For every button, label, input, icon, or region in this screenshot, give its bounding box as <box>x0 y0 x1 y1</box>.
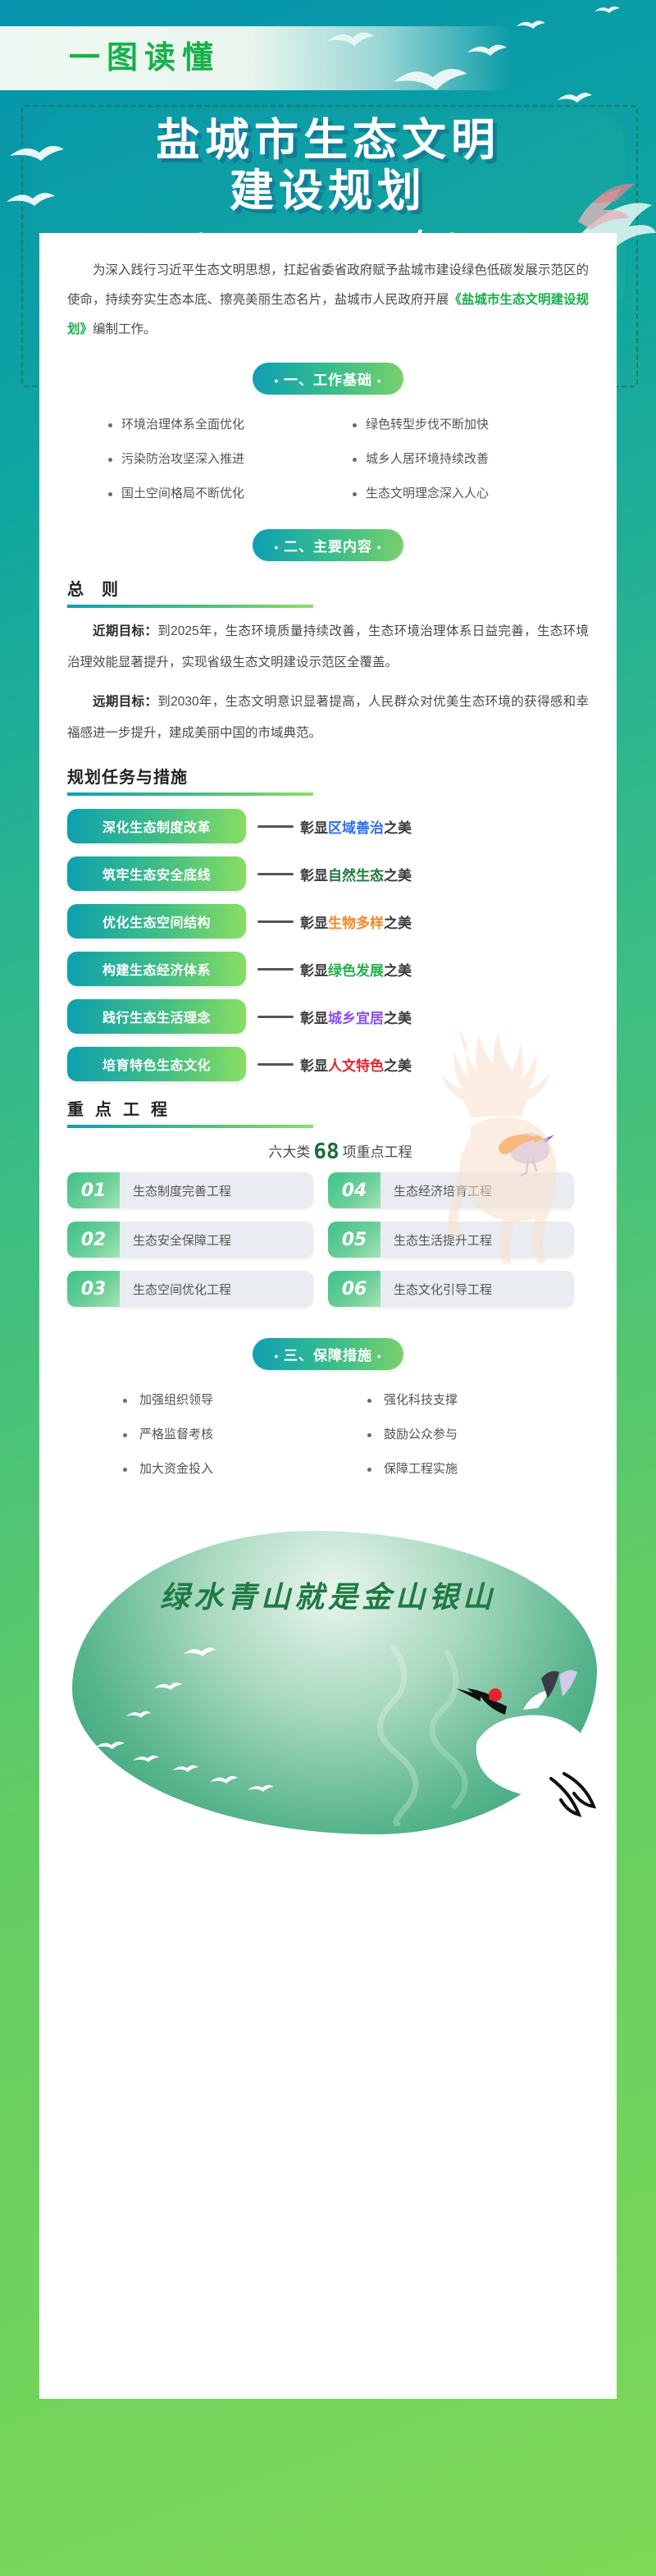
aim-suffix: 之美 <box>384 868 412 884</box>
project-number: 01 <box>67 1172 120 1208</box>
task-chip[interactable]: 筑牢生态安全底线 <box>67 856 246 891</box>
project-label: 生态安全保障工程 <box>120 1231 313 1249</box>
task-aim: 彰显自然生态之美 <box>300 864 412 884</box>
task-aim: 彰显城乡宜居之美 <box>300 1007 412 1027</box>
list-item: 国土空间格局不断优化 <box>100 477 344 511</box>
count-number: 68 <box>313 1140 339 1164</box>
project-label: 生态生活提升工程 <box>380 1231 574 1249</box>
footer-scene: 绿水青山就是金山银山 <box>39 1498 617 1843</box>
aim-prefix: 彰显 <box>300 868 328 884</box>
project-cell: 06 生态文化引导工程 <box>328 1271 589 1307</box>
section-3-pill-wrap: • 三、保障措施 • <box>67 1338 589 1370</box>
project-label: 生态空间优化工程 <box>120 1281 313 1298</box>
task-aim: 彰显人文特色之美 <box>300 1054 412 1075</box>
long-term-goal-label: 远期目标： <box>93 695 157 709</box>
task-aim: 彰显生物多样之美 <box>300 911 412 932</box>
task-row: 深化生态制度改革 彰显区域善治之美 <box>67 809 589 843</box>
intro-paragraph: 为深入践行习近平生态文明思想，扛起省委省政府赋予盐城市建设绿色低碳发展示范区的使… <box>67 256 589 345</box>
infographic-page: 一图读懂 盐城市生态文明 建设规划 (2022-2030年) <box>0 0 656 2576</box>
project-number: 06 <box>328 1271 380 1307</box>
aim-highlight: 区域善治 <box>328 820 384 836</box>
tasks-title: 规划任务与措施 <box>67 764 589 788</box>
title-line-1: 盐城市生态文明 <box>156 116 500 165</box>
page-title: 盐城市生态文明 建设规划 <box>0 115 656 217</box>
aim-highlight: 城乡宜居 <box>328 1011 384 1026</box>
task-chip[interactable]: 培育特色生态文化 <box>67 1047 246 1081</box>
connector-dash <box>257 825 294 828</box>
list-item: 强化科技支撑 <box>344 1383 589 1418</box>
project-cell: 02 生态安全保障工程 <box>67 1222 328 1258</box>
section-2-pill[interactable]: • 二、主要内容 • <box>253 529 403 561</box>
project-number: 03 <box>67 1271 120 1307</box>
project-cell: 03 生态空间优化工程 <box>67 1271 328 1307</box>
task-row: 践行生态生活理念 彰显城乡宜居之美 <box>67 999 589 1034</box>
aim-suffix: 之美 <box>384 963 412 979</box>
pill-dot-left: • <box>274 1350 279 1363</box>
general-rules-heading: 总则 <box>67 576 589 608</box>
list-item: 保障工程实施 <box>344 1452 589 1487</box>
list-item: 绿色转型步伐不断加快 <box>344 408 589 442</box>
sandpiper-bird-icon <box>485 1125 558 1177</box>
sheet-bottom-padding <box>67 1843 589 1870</box>
section-2-pill-wrap: • 二、主要内容 • <box>67 529 589 561</box>
project-label: 生态经济培育工程 <box>380 1182 574 1199</box>
connector-dash <box>257 1063 294 1066</box>
connector-dash <box>257 920 294 923</box>
task-list: 深化生态制度改革 彰显区域善治之美 筑牢生态安全底线 彰显自然生态之美 优化生态… <box>67 809 589 1081</box>
project-item[interactable]: 04 生态经济培育工程 <box>328 1172 574 1208</box>
aim-suffix: 之美 <box>384 1058 412 1074</box>
task-row: 培育特色生态文化 彰显人文特色之美 <box>67 1047 589 1081</box>
project-item[interactable]: 06 生态文化引导工程 <box>328 1271 574 1307</box>
project-item[interactable]: 05 生态生活提升工程 <box>328 1222 574 1258</box>
project-item[interactable]: 01 生态制度完善工程 <box>67 1172 313 1208</box>
heading-underline <box>67 1125 313 1128</box>
task-aim: 彰显区域善治之美 <box>300 816 412 837</box>
aim-prefix: 彰显 <box>300 916 328 931</box>
project-count-line: 六大类68项重点工程 <box>67 1140 589 1164</box>
aim-highlight: 生物多样 <box>328 916 384 931</box>
section-2-label: 二、主要内容 <box>284 539 372 555</box>
project-label: 生态制度完善工程 <box>120 1182 313 1199</box>
connector-dash <box>257 968 294 971</box>
pill-dot-right: • <box>377 1350 382 1363</box>
aim-highlight: 自然生态 <box>328 868 384 884</box>
key-projects-heading: 重点工程 <box>67 1096 589 1128</box>
intro-text-after: 编制工作。 <box>93 322 157 336</box>
task-chip[interactable]: 深化生态制度改革 <box>67 809 246 843</box>
aim-highlight: 绿色发展 <box>328 963 384 979</box>
aim-prefix: 彰显 <box>300 963 328 979</box>
title-line-2: 建设规划 <box>0 166 656 217</box>
aim-prefix: 彰显 <box>300 1058 328 1074</box>
aim-suffix: 之美 <box>384 1011 412 1026</box>
list-item: 加大资金投入 <box>100 1452 344 1487</box>
task-chip[interactable]: 优化生态空间结构 <box>67 904 246 939</box>
section-1-label: 一、工作基础 <box>284 372 372 388</box>
pill-dot-left: • <box>274 541 279 554</box>
project-number: 04 <box>328 1172 380 1208</box>
task-row: 筑牢生态安全底线 彰显自然生态之美 <box>67 856 589 891</box>
footer-slogan: 绿水青山就是金山银山 <box>39 1573 617 1616</box>
list-item: 加强组织领导 <box>100 1383 344 1418</box>
aim-suffix: 之美 <box>384 916 412 931</box>
task-chip[interactable]: 践行生态生活理念 <box>67 999 246 1034</box>
pill-dot-right: • <box>377 374 382 387</box>
pill-dot-left: • <box>274 374 279 387</box>
project-cell: 05 生态生活提升工程 <box>328 1222 589 1258</box>
project-item[interactable]: 02 生态安全保障工程 <box>67 1222 313 1258</box>
list-item: 严格监督考核 <box>100 1418 344 1452</box>
pill-dot-right: • <box>377 541 382 554</box>
connector-dash <box>257 873 294 875</box>
work-basis-list: 环境治理体系全面优化 绿色转型步伐不断加快 污染防治攻坚深入推进 城乡人居环境持… <box>67 408 589 511</box>
safeguard-measures-list: 加强组织领导 强化科技支撑 严格监督考核 鼓励公众参与 加大资金投入 保障工程实… <box>67 1383 589 1487</box>
heading-underline <box>67 605 313 608</box>
count-prefix: 六大类 <box>268 1144 310 1160</box>
aim-prefix: 彰显 <box>300 1011 328 1026</box>
ribbon-label: 一图读懂 <box>69 43 220 74</box>
list-item: 城乡人居环境持续改善 <box>344 442 589 477</box>
project-item[interactable]: 03 生态空间优化工程 <box>67 1271 313 1307</box>
task-aim: 彰显绿色发展之美 <box>300 959 412 980</box>
list-item: 鼓励公众参与 <box>344 1418 589 1452</box>
section-3-label: 三、保障措施 <box>284 1348 372 1363</box>
list-item: 生态文明理念深入人心 <box>344 477 589 511</box>
section-1-pill[interactable]: • 一、工作基础 • <box>253 363 403 395</box>
task-chip[interactable]: 构建生态经济体系 <box>67 952 246 986</box>
project-number: 05 <box>328 1222 380 1258</box>
general-rules-title: 总则 <box>67 576 589 600</box>
heading-underline <box>67 792 313 796</box>
aim-highlight: 人文特色 <box>328 1058 384 1074</box>
aim-suffix: 之美 <box>384 820 412 836</box>
project-number: 02 <box>67 1222 120 1258</box>
tasks-heading: 规划任务与措施 <box>67 764 589 796</box>
section-3-pill[interactable]: • 三、保障措施 • <box>253 1338 403 1370</box>
long-term-goal: 远期目标：到2030年，生态文明意识显著提高，人民群众对优美生态环境的获得感和幸… <box>67 687 589 749</box>
project-cell: 01 生态制度完善工程 <box>67 1172 328 1208</box>
project-cell: 04 生态经济培育工程 <box>328 1172 589 1208</box>
project-label: 生态文化引导工程 <box>380 1281 574 1298</box>
count-suffix: 项重点工程 <box>343 1144 412 1160</box>
aim-prefix: 彰显 <box>300 820 328 836</box>
project-grid: 01 生态制度完善工程 04 生态经济培育工程 02 生态安全保障工程 <box>67 1172 589 1320</box>
ribbon-banner: 一图读懂 <box>0 26 656 90</box>
connector-dash <box>257 1016 294 1018</box>
near-term-goal-label: 近期目标： <box>93 624 157 638</box>
red-crowned-crane-icon <box>444 1667 600 1839</box>
content-sheet: 为深入践行习近平生态文明思想，扛起省委省政府赋予盐城市建设绿色低碳发展示范区的使… <box>39 233 617 2399</box>
key-projects-title: 重点工程 <box>67 1096 589 1120</box>
task-row: 构建生态经济体系 彰显绿色发展之美 <box>67 952 589 986</box>
near-term-goal: 近期目标：到2025年，生态环境质量持续改善，生态环境治理体系日益完善，生态环境… <box>67 616 589 678</box>
section-1-pill-wrap: • 一、工作基础 • <box>67 363 589 395</box>
list-item: 污染防治攻坚深入推进 <box>100 442 344 477</box>
list-item: 环境治理体系全面优化 <box>100 408 344 442</box>
task-row: 优化生态空间结构 彰显生物多样之美 <box>67 904 589 939</box>
